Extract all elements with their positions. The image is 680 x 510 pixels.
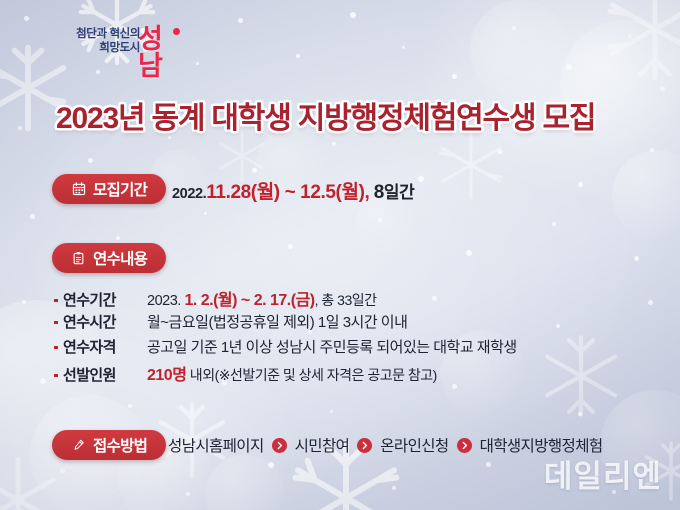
snowflake-icon (600, 0, 680, 84)
watermark: 데일리엔 (544, 451, 662, 496)
logo-tagline-line2: 희망도시 (42, 42, 140, 55)
detail-value: 2023. 1. 2.(월) ~ 2. 17.(금), 총 33일간 (147, 286, 377, 310)
pen-icon (71, 438, 86, 453)
training-detail-list: 연수기간 2023. 1. 2.(월) ~ 2. 17.(금), 총 33일간 … (54, 286, 517, 386)
detail-label: 연수시간 (63, 311, 147, 332)
list-item: 선발인원 210명 내외(※선발기준 및 상세 자격은 공고문 참고) (54, 361, 517, 386)
detail-value: 월~금요일(법정공휴일 제외) 1일 3시간 이내 (147, 311, 407, 332)
calendar-icon (71, 182, 86, 197)
snowflake-icon (432, 126, 510, 204)
badge-recruitment-period-label: 모집기간 (93, 178, 147, 200)
bullet-icon (54, 292, 63, 310)
period-duration-unit: 일간 (384, 183, 414, 202)
apply-step-1: 성남시홈페이지 (168, 434, 264, 456)
detail-suffix: 월~금요일(법정공휴일 제외) 1일 3시간 이내 (147, 314, 407, 331)
badge-training-content-label: 연수내용 (93, 247, 147, 269)
detail-label: 연수기간 (63, 289, 147, 310)
badge-application-method: 접수방법 (52, 430, 166, 460)
list-item: 연수시간 월~금요일(법정공휴일 제외) 1일 3시간 이내 (54, 311, 517, 336)
detail-suffix: , 총 33일간 (315, 292, 377, 308)
snowflake-icon (0, 452, 66, 510)
poster-canvas: 첨단과 혁신의 희망도시 성남 2023년 동계 대학생 지방행정체험연수생 모… (0, 0, 680, 510)
detail-highlight: 1. 2.(월) ~ 2. 17.(금) (184, 292, 314, 309)
detail-suffix: 내외(※선발기준 및 상세 자격은 공고문 참고) (186, 367, 436, 383)
detail-prefix: 2023. (147, 293, 181, 309)
snowflake-icon (535, 330, 627, 422)
apply-step-2: 시민참여 (295, 434, 350, 456)
detail-label: 선발인원 (63, 364, 147, 385)
detail-value: 공고일 기준 1년 이상 성남시 주민등록 되어있는 대학교 재학생 (147, 336, 517, 357)
page-title: 2023년 동계 대학생 지방행정체험연수생 모집 (56, 93, 636, 137)
bullet-icon (54, 339, 63, 357)
badge-training-content: 연수내용 (52, 243, 166, 273)
detail-value: 210명 내외(※선발기준 및 상세 자격은 공고문 참고) (147, 361, 437, 385)
list-item: 연수자격 공고일 기준 1년 이상 성남시 주민등록 되어있는 대학교 재학생 (54, 336, 517, 361)
badge-recruitment-period: 모집기간 (52, 174, 166, 204)
logo-dot-icon (173, 28, 180, 35)
detail-label: 연수자격 (63, 336, 147, 357)
period-duration-number: 8 (374, 182, 384, 203)
seongnam-city-logo: 첨단과 혁신의 희망도시 성남 (42, 26, 182, 68)
recruitment-period-value: 2022.11.28(월) ~ 12.5(월), 8일간 (172, 177, 414, 204)
period-year: 2022. (172, 186, 206, 202)
period-range: 11.28(월) ~ 12.5(월), (206, 182, 369, 203)
detail-suffix: 공고일 기준 1년 이상 성남시 주민등록 되어있는 대학교 재학생 (147, 339, 517, 356)
logo-tagline-line1: 첨단과 혁신의 (42, 28, 140, 41)
apply-step-3: 온라인신청 (380, 434, 448, 456)
chevron-right-icon (272, 438, 287, 453)
bullet-icon (54, 314, 63, 332)
detail-highlight: 210명 (147, 367, 186, 384)
chevron-right-icon (457, 438, 472, 453)
chevron-right-icon (357, 438, 372, 453)
application-path: 성남시홈페이지 시민참여 온라인신청 대학생지방행정체험 (168, 434, 603, 456)
bullet-icon (54, 367, 63, 385)
clipboard-icon (71, 251, 86, 266)
list-item: 연수기간 2023. 1. 2.(월) ~ 2. 17.(금), 총 33일간 (54, 286, 517, 311)
badge-application-method-label: 접수방법 (93, 434, 147, 456)
